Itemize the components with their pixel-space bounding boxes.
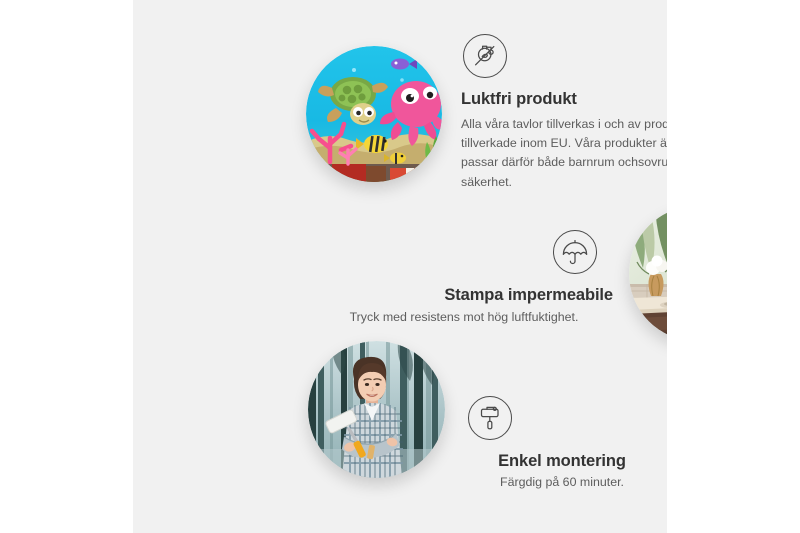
paint-roller-icon <box>468 396 512 440</box>
photo-bathroom[interactable] <box>629 206 667 341</box>
feature-title: Stampa impermeabile <box>313 286 615 305</box>
photo-underwater[interactable] <box>306 46 442 182</box>
feature-panel: Luktfri produkt Alla våra tavlor tillver… <box>133 0 667 533</box>
feature-assembly: Enkel montering Färgdig på 60 minuter. <box>458 396 667 492</box>
feature-title: Enkel montering <box>458 452 667 471</box>
feature-odourless: Luktfri produkt Alla våra tavlor tillver… <box>461 34 667 192</box>
feature-waterproof: Stampa impermeabile Tryck med resistens … <box>313 230 615 327</box>
feature-body: Alla våra tavlor tillverkas i och av pro… <box>461 115 667 192</box>
photo-forest[interactable] <box>308 341 445 478</box>
no-fragrance-icon <box>463 34 507 78</box>
feature-title: Luktfri produkt <box>461 90 667 109</box>
feature-body: Färgdig på 60 minuter. <box>458 473 667 492</box>
umbrella-icon <box>553 230 597 274</box>
feature-body: Tryck med resistens mot hög luftfuktighe… <box>313 308 615 327</box>
product-feature-banner: Luktfri produkt Alla våra tavlor tillver… <box>0 0 800 533</box>
